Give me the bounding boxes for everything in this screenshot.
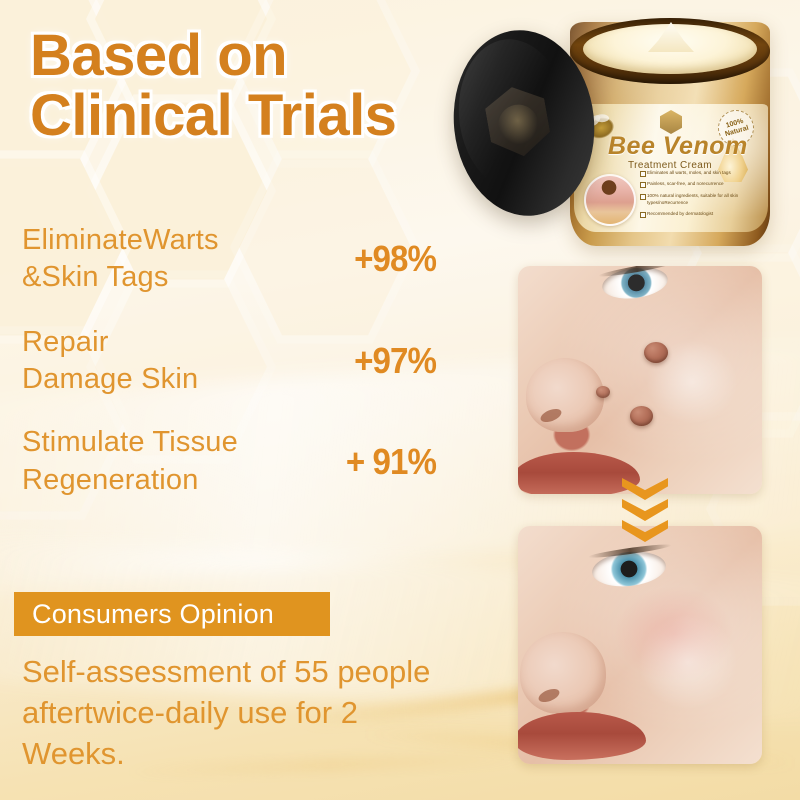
consumers-opinion-label: Consumers Opinion (32, 599, 274, 630)
benefit-label: EliminateWarts &Skin Tags (22, 222, 219, 296)
before-nose (526, 358, 604, 432)
before-small-mole (596, 386, 610, 398)
benefits-list: EliminateWarts &Skin Tags +98% Repair Da… (22, 222, 442, 527)
before-photo (518, 266, 762, 494)
product-bullet: Eliminates all warts, moles, and skin ta… (640, 170, 758, 177)
benefit-value: +97% (354, 340, 436, 382)
jar-label: 100% Natural Bee Venom Treatment Cream E… (574, 104, 768, 232)
transition-arrow (622, 478, 668, 541)
benefit-value: +98% (354, 238, 436, 280)
before-mole (644, 342, 668, 363)
benefit-row: Repair Damage Skin +97% (22, 324, 442, 398)
page-title: Based on Clinical Trials (30, 26, 500, 147)
chevron-down-icon (622, 520, 668, 542)
product-bullet: Painless, scar-free, and norecurrence (640, 181, 758, 188)
consumers-opinion-body: Self-assessment of 55 people aftertwice-… (22, 652, 467, 775)
benefit-label: Stimulate Tissue Regeneration (22, 424, 238, 498)
headline-line-2: Clinical Trials (30, 86, 500, 146)
brand-crest-icon (660, 110, 682, 134)
before-skin-tag (630, 406, 653, 426)
benefit-value: + 91% (346, 441, 436, 483)
chevron-down-icon (622, 499, 668, 521)
product-jar: 100% Natural Bee Venom Treatment Cream E… (452, 8, 792, 256)
consumers-opinion-banner: Consumers Opinion (14, 592, 330, 636)
after-nose (520, 632, 606, 714)
chevron-down-icon (622, 478, 668, 500)
benefit-label: Repair Damage Skin (22, 324, 198, 398)
product-name: Bee Venom (608, 132, 748, 161)
headline-line-1: Based on (30, 23, 287, 88)
benefit-row: EliminateWarts &Skin Tags +98% (22, 222, 442, 296)
product-bullet: Recommended by dermatologist (640, 211, 758, 218)
before-nostril (539, 406, 564, 424)
skin-cross-section-icon (584, 174, 636, 226)
ad-canvas: Based on Clinical Trials EliminateWarts … (0, 0, 800, 800)
benefit-row: Stimulate Tissue Regeneration + 91% (22, 424, 442, 498)
product-bullet: 100% natural ingredients, suitable for a… (640, 193, 758, 207)
after-nostril (537, 686, 562, 704)
after-skin-sheen (638, 614, 738, 710)
after-photo (518, 526, 762, 764)
product-benefit-bullets: Eliminates all warts, moles, and skin ta… (640, 170, 758, 222)
lid-emblem-icon (482, 82, 553, 161)
